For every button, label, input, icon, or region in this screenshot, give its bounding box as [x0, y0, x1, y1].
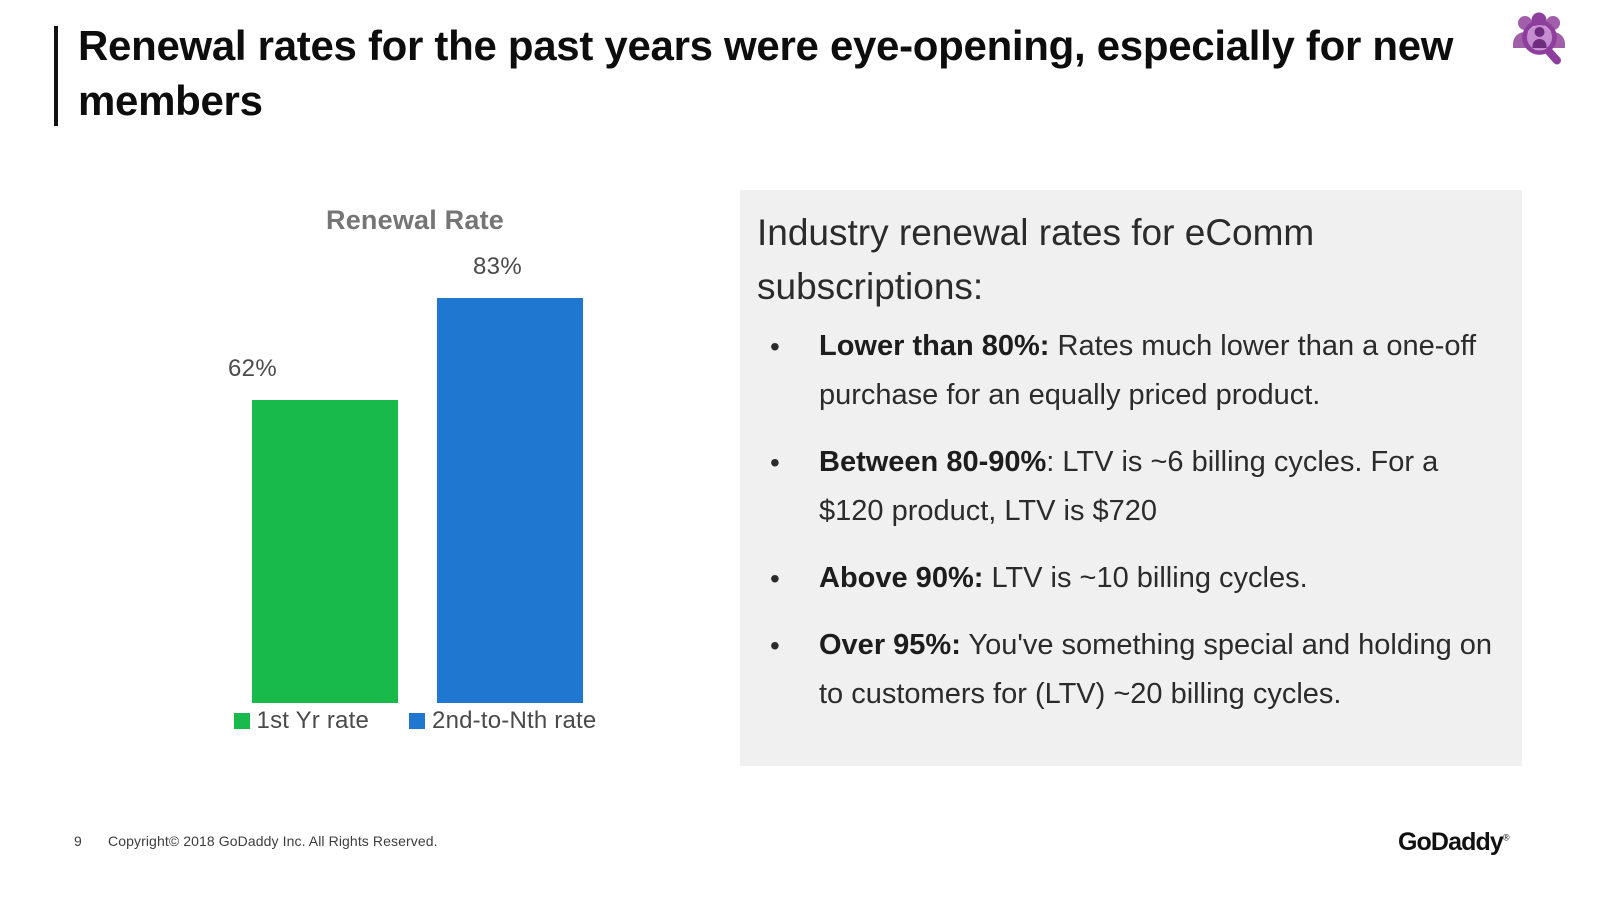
- legend-item-1st-yr-rate: 1st Yr rate: [234, 707, 369, 735]
- list-item: • Between 80-90%: LTV is ~6 billing cycl…: [757, 438, 1509, 536]
- bullet-marker-icon: •: [757, 438, 819, 536]
- registered-mark: ®: [1503, 833, 1509, 843]
- bullet-text: Between 80-90%: LTV is ~6 billing cycles…: [819, 438, 1509, 536]
- list-item: • Lower than 80%: Rates much lower than …: [757, 322, 1509, 420]
- bar-1st-yr-rate: [252, 400, 398, 703]
- panel-heading: Industry renewal rates for eComm subscri…: [757, 206, 1497, 314]
- industry-rates-panel: Industry renewal rates for eComm subscri…: [740, 190, 1522, 766]
- bullet-marker-icon: •: [757, 554, 819, 603]
- slide-canvas: Renewal rates for the past years were ey…: [0, 0, 1600, 899]
- bullet-body: LTV is ~10 billing cycles.: [983, 562, 1307, 594]
- bullet-lead: Between 80-90%: [819, 446, 1046, 478]
- bullet-marker-icon: •: [757, 621, 819, 719]
- list-item: • Over 95%: You've something special and…: [757, 621, 1509, 719]
- legend-swatch-blue: [409, 713, 425, 729]
- legend-item-2nd-to-nth-rate: 2nd-to-Nth rate: [409, 707, 596, 735]
- godaddy-wordmark: GoDaddy: [1398, 828, 1503, 856]
- bullet-lead: Over 95%:: [819, 629, 961, 661]
- legend-label-2nd-to-nth-rate: 2nd-to-Nth rate: [432, 707, 596, 735]
- bullet-lead: Lower than 80%:: [819, 330, 1049, 362]
- godaddy-logo: GoDaddy®: [1398, 828, 1509, 857]
- bullet-text: Over 95%: You've something special and h…: [819, 621, 1509, 719]
- legend-label-1st-yr-rate: 1st Yr rate: [257, 707, 369, 735]
- chart-legend: 1st Yr rate 2nd-to-Nth rate: [180, 707, 650, 735]
- bullet-list: • Lower than 80%: Rates much lower than …: [757, 322, 1509, 737]
- list-item: • Above 90%: LTV is ~10 billing cycles.: [757, 554, 1509, 603]
- chart-plot-area: 62% 83%: [180, 195, 650, 703]
- page-number: 9: [74, 833, 82, 849]
- bar-value-label-2: 83%: [425, 253, 570, 281]
- bar-value-label-1: 62%: [180, 355, 325, 383]
- bullet-text: Above 90%: LTV is ~10 billing cycles.: [819, 554, 1509, 603]
- bullet-text: Lower than 80%: Rates much lower than a …: [819, 322, 1509, 420]
- bullet-lead: Above 90%:: [819, 562, 983, 594]
- page-title: Renewal rates for the past years were ey…: [78, 18, 1478, 128]
- legend-swatch-green: [234, 713, 250, 729]
- copyright-text: Copyright© 2018 GoDaddy Inc. All Rights …: [108, 833, 438, 849]
- bullet-marker-icon: •: [757, 322, 819, 420]
- people-search-icon: [1508, 10, 1570, 68]
- renewal-rate-chart: Renewal Rate 62% 83% 1st Yr rate 2nd-to-…: [180, 195, 650, 755]
- bar-2nd-to-nth-rate: [437, 298, 583, 703]
- title-accent-bar: [54, 26, 58, 126]
